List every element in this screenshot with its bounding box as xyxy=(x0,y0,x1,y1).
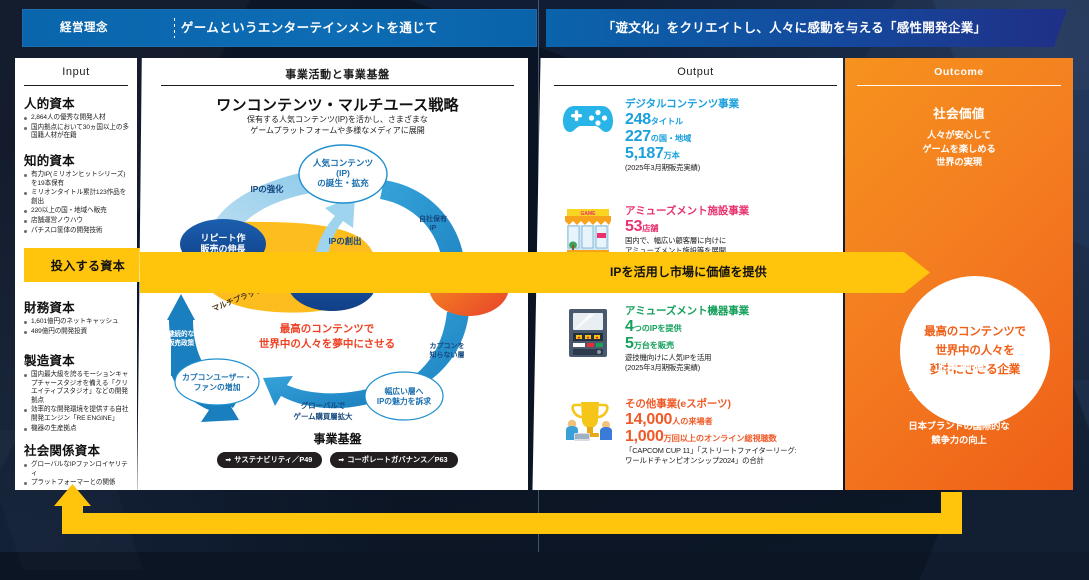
core-column-title: 事業活動と事業基盤 xyxy=(147,66,528,82)
strategy-subtitle: 保有する人気コンテンツ(IP)を活かし、さまざまな ゲームプラットフォームや多様… xyxy=(147,114,528,136)
capital-list: 国内最大級を誇るモーションキャプチャースタジオを備える「クリエイティブスタジオ」… xyxy=(24,371,130,433)
metric-unit: 万回以上のオンライン総視聴数 xyxy=(664,434,777,443)
output-item-title: アミューズメント施設事業 xyxy=(625,203,832,218)
list-item: 489億円の開発投資 xyxy=(24,328,130,337)
strategy-title: ワンコンテンツ・マルチユース戦略 xyxy=(147,94,528,115)
metric-value: 5,187 xyxy=(625,145,664,162)
philosophy-header-left: 経営理念 ゲームというエンターテインメントを通じて xyxy=(22,9,537,47)
list-item: 国内拠点において30ヵ国以上の多国籍人材が在籍 xyxy=(24,124,130,141)
social-value-line3: 世界の実現 xyxy=(845,156,1073,170)
list-item: グローバルなIPファンロイヤリティ xyxy=(24,461,130,478)
cycle-label-continuous-line2: 販売政策 xyxy=(168,338,195,347)
input-panel: Input 人的資本 2,864人の優秀な開発人材 国内拠点において30ヵ国以上… xyxy=(15,58,137,490)
cycle-label-strengthen: IPの強化 xyxy=(250,184,284,194)
metric-unit: 店舗 xyxy=(642,224,658,233)
cycle-label-global-line1: グローバルで xyxy=(301,401,346,410)
output-metric: 1,000万回以上のオンライン総視聴数 xyxy=(625,429,832,446)
output-item-amusement-equipment: ★ ★ ★ アミューズメント機器事業 4つのIPを提供 5万台を販売 xyxy=(560,303,832,373)
value-provision-arrow: IPを活用し市場に価値を提供 xyxy=(158,252,930,293)
cycle-node-popular-ip-line2: (IP) xyxy=(336,168,350,178)
cycle-node-users-line1: カプコンユーザー・ xyxy=(182,372,252,382)
metric-value: 1,000 xyxy=(625,428,664,445)
link-sustainability-label: サステナビリティ／P49 xyxy=(234,455,312,465)
value-provision-arrow-tail xyxy=(140,252,164,293)
output-item-amusement-facility: GAME アミューズメント施設事業 53店舗 xyxy=(560,203,832,256)
metric-value: 4 xyxy=(625,318,634,335)
metric-value: 5 xyxy=(625,335,634,352)
capital-list: 2,864人の優秀な開発人材 国内拠点において30ヵ国以上の多国籍人材が在籍 xyxy=(24,114,130,141)
capital-manufacturing: 製造資本 国内最大級を誇るモーションキャプチャースタジオを備える「クリエイティブ… xyxy=(24,350,130,434)
cycle-node-popular-ip-line3: の誕生・拡充 xyxy=(317,177,369,188)
social-value-body: 人々が安心して ゲームを楽しめる 世界の実現 xyxy=(845,129,1073,170)
capital-list: 有力IP(ミリオンヒットシリーズ)を19本保有 ミリオンタイトル累計123作品を… xyxy=(24,171,130,235)
svg-text:★: ★ xyxy=(595,335,599,340)
list-item: 1,601億円のネットキャッシュ xyxy=(24,318,130,327)
feedback-arrow-right-riser xyxy=(941,492,962,519)
corporate-value-line3: 日本ブランドの国際的な xyxy=(845,420,1073,434)
output-metric: 5,187万本 xyxy=(625,146,832,163)
capital-intellectual: 知的資本 有力IP(ミリオンヒットシリーズ)を19本保有 ミリオンタイトル累計1… xyxy=(24,150,130,236)
cycle-label-unknown-line2: 知らない層 xyxy=(429,350,465,359)
capital-title: 知的資本 xyxy=(24,150,130,169)
list-item: 機器の生産拠点 xyxy=(24,425,130,434)
purpose-circle-line1: 最高のコンテンツで xyxy=(924,323,1026,342)
gamepad-icon xyxy=(560,96,616,173)
capital-human: 人的資本 2,864人の優秀な開発人材 国内拠点において30ヵ国以上の多国籍人材… xyxy=(24,93,130,142)
output-item-note: 遊技機向けに人気IPを活用 xyxy=(625,353,832,363)
list-item: プラットフォーマーとの関係 xyxy=(24,479,130,488)
input-rule xyxy=(24,85,128,86)
output-item-text: デジタルコンテンツ事業 248タイトル 227の国・地域 5,187万本 (20… xyxy=(625,96,832,173)
business-base-links: ➡ サステナビリティ／P49 ➡ コーポレートガバナンス／P63 xyxy=(147,452,528,468)
cycle-label-owned-line2: IP xyxy=(430,225,437,232)
metric-value: 53 xyxy=(625,218,642,235)
output-item-note: (2025年3月期販売実績) xyxy=(625,163,832,173)
metric-value: 227 xyxy=(625,128,651,145)
output-metric: 248タイトル xyxy=(625,112,832,129)
output-item-note: 「CAPCOM CUP 11」「ストリートファイターリーグ: xyxy=(625,446,832,456)
output-item-note: 国内で、幅広い顧客層に向けに xyxy=(625,236,832,246)
pachislo-machine-icon: ★ ★ ★ xyxy=(560,303,616,373)
output-item-text: その他事業(eスポーツ) 14,000人の来場者 1,000万回以上のオンライン… xyxy=(625,396,832,466)
output-metric: 227の国・地域 xyxy=(625,129,832,146)
cycle-center-line2: 世界中の人々を夢中にさせる xyxy=(259,337,395,350)
cycle-node-wide-line1: 幅広い層へ xyxy=(385,386,424,396)
business-base-title: 事業基盤 xyxy=(147,430,528,447)
capital-title: 財務資本 xyxy=(24,297,130,316)
arrow-right-icon: ➡ xyxy=(338,456,344,464)
corporate-value-title: 企業価値 xyxy=(845,355,1073,374)
corporate-value-line4: 競争力の向上 xyxy=(845,434,1073,448)
input-capital-tab: 投入する資本 xyxy=(24,248,152,282)
metric-unit: の国・地域 xyxy=(651,134,691,143)
outcome-column-title: Outcome xyxy=(845,66,1073,78)
cycle-node-users-line2: ファンの増加 xyxy=(194,382,241,392)
social-value-line2: ゲームを楽しめる xyxy=(845,143,1073,157)
metric-unit: つのIPを提供 xyxy=(634,324,682,333)
corporate-value-line1: 多様な人材が活用できる xyxy=(845,381,1073,395)
output-metric: 4つのIPを提供 xyxy=(625,319,832,336)
strategy-subtitle-line1: 保有する人気コンテンツ(IP)を活かし、さまざまな xyxy=(147,114,528,125)
philosophy-statement-right: 「遊文化」をクリエイトし、人々に感動を与える「感性開発企業」 xyxy=(546,9,1043,47)
list-item: パチスロ筐体の開発技術 xyxy=(24,227,130,236)
arcade-store-icon: GAME xyxy=(560,203,616,256)
output-metric: 14,000人の来場者 xyxy=(625,412,832,429)
capital-list: グローバルなIPファンロイヤリティ プラットフォーマーとの関係 xyxy=(24,461,130,488)
output-item-title: その他事業(eスポーツ) xyxy=(625,396,832,411)
input-column-title: Input xyxy=(15,66,137,78)
svg-text:★: ★ xyxy=(577,335,581,340)
capital-title: 人的資本 xyxy=(24,93,130,112)
cycle-node-popular-ip-line1: 人気コンテンツ xyxy=(313,157,373,168)
capital-title: 社会関係資本 xyxy=(24,440,130,459)
capital-list: 1,601億円のネットキャッシュ 489億円の開発投資 xyxy=(24,318,130,336)
output-item-note: (2025年3月期販売実績) xyxy=(625,363,832,373)
metric-unit: 万台を販売 xyxy=(634,341,674,350)
core-rule xyxy=(161,85,514,86)
output-metric: 5万台を販売 xyxy=(625,336,832,353)
outcome-rule xyxy=(857,85,1061,86)
value-creation-cycle-diagram: 人気コンテンツ (IP) の誕生・拡充 リピート作 販売の伸長 オリジナル ゲー… xyxy=(147,144,528,444)
metric-unit: 万本 xyxy=(664,151,680,160)
cycle-label-global-line2: ゲーム購買層拡大 xyxy=(294,412,354,421)
output-item-title: デジタルコンテンツ事業 xyxy=(625,96,832,111)
cycle-center-line1: 最高のコンテンツで xyxy=(280,322,375,335)
output-item-text: アミューズメント機器事業 4つのIPを提供 5万台を販売 遊技機向けに人気IPを… xyxy=(625,303,832,373)
arrow-right-icon: ➡ xyxy=(225,456,231,464)
metric-value: 248 xyxy=(625,111,651,128)
list-item: 効率的な開発環境を提供する自社開発エンジン「RE ENGINE」 xyxy=(24,406,130,423)
output-item-note: ワールドチャンピオンシップ2024」の合計 xyxy=(625,456,832,466)
list-item: 220以上の国・地域へ販売 xyxy=(24,207,130,216)
social-value-line1: 人々が安心して xyxy=(845,129,1073,143)
list-item: 店舗運営ノウハウ xyxy=(24,217,130,226)
cycle-label-creation: IPの創出 xyxy=(328,236,361,246)
metric-unit: タイトル xyxy=(651,117,683,126)
svg-text:★: ★ xyxy=(586,335,590,340)
corporate-value-line2: 環境づくり xyxy=(845,395,1073,409)
corporate-value-body-2: 日本ブランドの国際的な 競争力の向上 xyxy=(845,420,1073,447)
link-governance-label: コーポレートガバナンス／P63 xyxy=(347,455,447,465)
output-item-text: アミューズメント施設事業 53店舗 国内で、幅広い顧客層に向けに アミューズメン… xyxy=(625,203,832,256)
list-item: ミリオンタイトル累計123作品を創出 xyxy=(24,189,130,206)
strategy-subtitle-line2: ゲームプラットフォームや多様なメディアに展開 xyxy=(147,125,528,136)
esports-trophy-icon xyxy=(560,396,616,466)
capital-financial: 財務資本 1,601億円のネットキャッシュ 489億円の開発投資 xyxy=(24,297,130,337)
list-item: 2,864人の優秀な開発人材 xyxy=(24,114,130,123)
output-rule xyxy=(554,85,837,86)
cycle-node-wide-line2: IPの魅力を訴求 xyxy=(377,396,431,406)
cycle-label-continuous-line1: 継続的な xyxy=(168,329,195,338)
output-item-esports: その他事業(eスポーツ) 14,000人の来場者 1,000万回以上のオンライン… xyxy=(560,396,832,466)
output-metric: 53店舗 xyxy=(625,219,832,236)
philosophy-header-right: 「遊文化」をクリエイトし、人々に感動を与える「感性開発企業」 xyxy=(546,9,1067,47)
link-sustainability[interactable]: ➡ サステナビリティ／P49 xyxy=(217,452,322,468)
input-capital-tab-label: 投入する資本 xyxy=(51,257,125,274)
output-item-title: アミューズメント機器事業 xyxy=(625,303,832,318)
output-column-title: Output xyxy=(548,66,843,78)
capital-title: 製造資本 xyxy=(24,350,130,369)
philosophy-statement-left: ゲームというエンターテインメントを通じて xyxy=(22,9,537,47)
value-provision-label: IPを活用し市場に価値を提供 xyxy=(610,252,767,293)
corporate-value-body-1: 多様な人材が活用できる 環境づくり xyxy=(845,381,1073,408)
capital-social: 社会関係資本 グローバルなIPファンロイヤリティ プラットフォーマーとの関係 xyxy=(24,440,130,489)
cycle-label-unknown-line1: カプコンを xyxy=(430,341,465,350)
social-value-title: 社会価値 xyxy=(845,103,1073,122)
metric-unit: 人の来場者 xyxy=(672,417,712,426)
metric-value: 14,000 xyxy=(625,411,672,428)
cycle-label-owned-line1: 自社保有 xyxy=(419,214,447,223)
cycle-node-repeat-line1: リピート作 xyxy=(200,232,245,243)
link-governance[interactable]: ➡ コーポレートガバナンス／P63 xyxy=(330,452,457,468)
list-item: 有力IP(ミリオンヒットシリーズ)を19本保有 xyxy=(24,171,130,188)
list-item: 国内最大級を誇るモーションキャプチャースタジオを備える「クリエイティブスタジオ」… xyxy=(24,371,130,405)
output-item-digital-content: デジタルコンテンツ事業 248タイトル 227の国・地域 5,187万本 (20… xyxy=(560,96,832,173)
feedback-arrow-horizontal xyxy=(62,513,962,534)
